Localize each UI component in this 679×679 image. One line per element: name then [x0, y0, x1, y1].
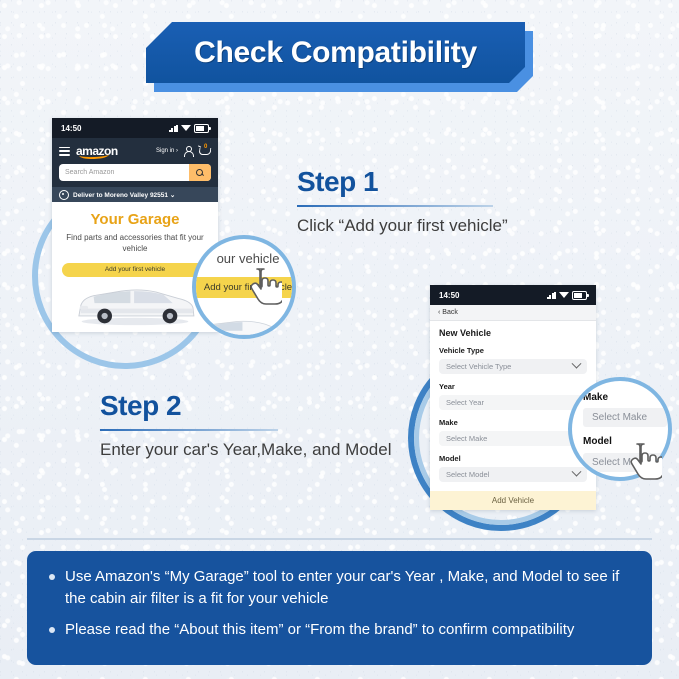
suv-illustration: [62, 281, 208, 327]
step-2-divider: [100, 429, 278, 431]
select-vehicle-type[interactable]: Select Vehicle Type: [439, 359, 587, 374]
add-vehicle-button[interactable]: Add Vehicle: [430, 491, 596, 510]
label-model: Model: [439, 454, 587, 463]
search-input[interactable]: Search Amazon: [59, 169, 189, 176]
select-year-value: Select Year: [446, 398, 484, 407]
battery-icon: [572, 291, 587, 300]
select-make-value: Select Make: [446, 434, 487, 443]
phone2-status-icons: [547, 291, 587, 300]
step-1-description: Click “Add your first vehicle”: [297, 215, 597, 238]
select-model-value: Select Model: [446, 470, 489, 479]
note-text: Please read the “About this item” or “Fr…: [65, 619, 574, 641]
phone1-status-icons: [169, 124, 209, 133]
compatibility-notes-box: Use Amazon's “My Garage” tool to enter y…: [27, 551, 652, 665]
magnified-select-model-value: Select M: [592, 457, 631, 468]
new-vehicle-form: New Vehicle Vehicle Type Select Vehicle …: [430, 321, 596, 482]
amazon-header-actions: Sign in › 0: [156, 145, 211, 157]
note-item: Use Amazon's “My Garage” tool to enter y…: [49, 566, 630, 610]
shopping-cart-icon[interactable]: 0: [198, 145, 211, 157]
hand-cursor-icon: [248, 265, 282, 307]
label-vehicle-type: Vehicle Type: [439, 346, 587, 355]
hand-cursor-icon: [628, 440, 662, 482]
header-banner: Check Compatibility: [146, 22, 533, 92]
wifi-icon: [181, 125, 191, 131]
banner-body: Check Compatibility: [146, 22, 525, 83]
search-button[interactable]: [189, 164, 211, 181]
delivery-location-text: Deliver to Moreno Valley 92551 ⌄: [73, 191, 175, 199]
search-icon: [196, 169, 204, 177]
step-1-divider: [297, 205, 493, 207]
chevron-down-icon: [572, 467, 582, 477]
section-divider: [27, 538, 652, 540]
garage-subtitle: Find parts and accessories that fit your…: [62, 233, 208, 255]
signal-bars-icon: [169, 125, 178, 132]
amazon-smile-icon: [79, 150, 109, 159]
step-2-title: Step 2: [100, 392, 400, 420]
select-year[interactable]: Select Year: [439, 395, 587, 410]
sign-in-link[interactable]: Sign in ›: [156, 148, 178, 154]
phone2-status-bar: 14:50: [430, 285, 596, 305]
add-first-vehicle-button[interactable]: Add your first vehicle: [62, 263, 208, 277]
phone2-clock: 14:50: [439, 291, 459, 300]
garage-title: Your Garage: [62, 211, 208, 228]
delivery-location-bar[interactable]: Deliver to Moreno Valley 92551 ⌄: [52, 187, 218, 202]
search-row: Search Amazon: [59, 164, 211, 181]
magnified-label-make: Make: [583, 392, 608, 403]
note-item: Please read the “About this item” or “Fr…: [49, 619, 630, 641]
signal-bars-icon: [547, 292, 556, 299]
amazon-search-bar: Search Amazon: [52, 164, 218, 187]
select-model[interactable]: Select Model: [439, 467, 587, 482]
label-make: Make: [439, 418, 587, 427]
magnified-label-model: Model: [583, 436, 612, 447]
cart-count-badge: 0: [204, 144, 207, 150]
form-title: New Vehicle: [439, 328, 587, 338]
phone1-status-bar: 14:50: [52, 118, 218, 138]
hamburger-menu-icon[interactable]: [59, 147, 70, 156]
step-2-block: Step 2 Enter your car's Year,Make, and M…: [100, 392, 400, 462]
select-vehicle-type-value: Select Vehicle Type: [446, 362, 511, 371]
bullet-icon: [49, 627, 55, 633]
wifi-icon: [559, 292, 569, 298]
account-person-icon[interactable]: [183, 146, 193, 157]
phone1-clock: 14:50: [61, 124, 81, 133]
select-make[interactable]: Select Make: [439, 431, 587, 446]
magnified-select-make[interactable]: Select Make: [583, 408, 667, 427]
white-suv-image: [62, 281, 208, 325]
location-pin-icon: [59, 190, 69, 200]
phone-mockup-new-vehicle: 14:50 ‹ Back New Vehicle Vehicle Type Se…: [430, 285, 596, 510]
label-year: Year: [439, 382, 587, 391]
magnifier-step1-partial-text: our vehicle: [196, 251, 296, 266]
chevron-down-icon: [572, 359, 582, 369]
amazon-logo[interactable]: amazon: [76, 144, 118, 158]
amazon-app-header: amazon Sign in › 0: [52, 138, 218, 164]
step-1-title: Step 1: [297, 168, 597, 196]
page-title: Check Compatibility: [194, 36, 477, 70]
magnified-select-make-value: Select Make: [592, 412, 647, 423]
bullet-icon: [49, 574, 55, 580]
battery-icon: [194, 124, 209, 133]
your-garage-card: Your Garage Find parts and accessories t…: [52, 202, 218, 325]
back-button[interactable]: ‹ Back: [430, 305, 596, 321]
step-1-block: Step 1 Click “Add your first vehicle”: [297, 168, 597, 238]
step-2-description: Enter your car's Year,Make, and Model: [100, 439, 400, 462]
note-text: Use Amazon's “My Garage” tool to enter y…: [65, 566, 630, 610]
